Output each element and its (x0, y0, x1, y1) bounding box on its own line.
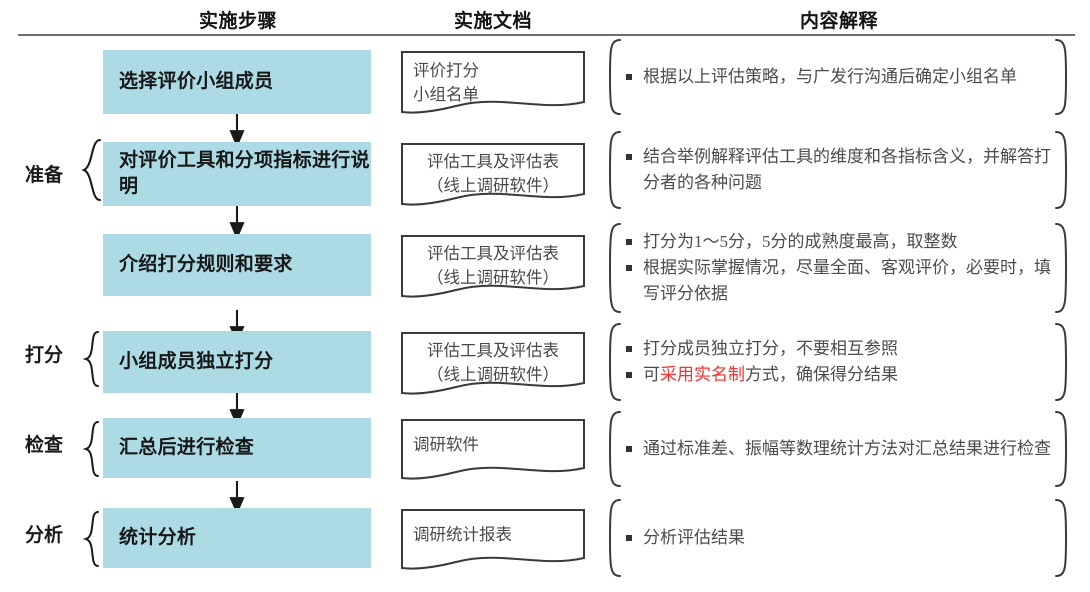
document-box-0[interactable]: 评价打分 小组名单 (400, 50, 586, 116)
bullet-square-icon (626, 239, 632, 245)
explanation-list-5: 分析评估结果 (626, 498, 1062, 578)
bullet-text: 根据实际掌握情况，尽量全面、客观评价，必要时，填写评分依据 (643, 255, 1062, 307)
document-text-5: 调研统计报表 (400, 523, 586, 547)
explanation-list-1: 结合举例解释评估工具的维度和各指标含义，并解答打分者的各种问题 (626, 130, 1062, 210)
bullet-square-icon (626, 265, 632, 271)
step-box-5[interactable]: 统计分析 (103, 508, 371, 568)
list-item: 打分为1～5分，5分的成熟度最高，取整数 (626, 229, 1062, 255)
document-box-2[interactable]: 评估工具及评估表 （线上调研软件） (400, 234, 586, 300)
list-item: 打分成员独立打分，不要相互参照 (626, 336, 1062, 362)
list-item: 根据实际掌握情况，尽量全面、客观评价，必要时，填写评分依据 (626, 255, 1062, 307)
step-label-0: 选择评价小组成员 (119, 69, 273, 95)
list-item-highlighted: 可采用实名制方式，确保得分结果 (626, 362, 1062, 388)
bullet-text: 根据以上评估策略，与广发行沟通后确定小组名单 (643, 64, 1062, 90)
document-box-5[interactable]: 调研统计报表 (400, 508, 586, 572)
step-box-0[interactable]: 选择评价小组成员 (103, 50, 371, 114)
document-text-0: 评价打分 小组名单 (400, 59, 586, 107)
document-box-4[interactable]: 调研软件 (400, 418, 586, 482)
bullet-text-prefix: 可 (643, 365, 660, 384)
list-item: 分析评估结果 (626, 525, 1062, 551)
explanation-box-1: 结合举例解释评估工具的维度和各指标含义，并解答打分者的各种问题 (604, 130, 1072, 210)
bullet-square-icon (626, 74, 632, 80)
bullet-text-highlight: 采用实名制 (660, 365, 745, 384)
document-box-3[interactable]: 评估工具及评估表 （线上调研软件） (400, 331, 586, 397)
bullet-square-icon (626, 535, 632, 541)
bullet-text-suffix: 方式，确保得分结果 (745, 365, 898, 384)
explanation-box-0: 根据以上评估策略，与广发行沟通后确定小组名单 (604, 38, 1072, 116)
step-label-2: 介绍打分规则和要求 (119, 252, 293, 278)
bullet-square-icon (626, 346, 632, 352)
step-label-4: 汇总后进行检查 (119, 435, 254, 461)
explanation-list-3: 打分成员独立打分，不要相互参照 可采用实名制方式，确保得分结果 (626, 322, 1062, 402)
step-label-1: 对评价工具和分项指标进行说明 (119, 148, 371, 200)
explanation-box-5: 分析评估结果 (604, 498, 1072, 578)
bullet-square-icon (626, 154, 632, 160)
document-text-1: 评估工具及评估表 （线上调研软件） (400, 150, 586, 198)
explanation-list-2: 打分为1～5分，5分的成熟度最高，取整数 根据实际掌握情况，尽量全面、客观评价，… (626, 222, 1062, 314)
explanation-list-0: 根据以上评估策略，与广发行沟通后确定小组名单 (626, 38, 1062, 116)
step-box-4[interactable]: 汇总后进行检查 (103, 418, 371, 478)
step-box-3[interactable]: 小组成员独立打分 (103, 331, 371, 393)
step-label-5: 统计分析 (119, 525, 196, 551)
bullet-text: 打分成员独立打分，不要相互参照 (643, 336, 1062, 362)
list-item: 通过标准差、振幅等数理统计方法对汇总结果进行检查 (626, 436, 1062, 462)
explanation-box-3: 打分成员独立打分，不要相互参照 可采用实名制方式，确保得分结果 (604, 322, 1072, 402)
list-item: 根据以上评估策略，与广发行沟通后确定小组名单 (626, 64, 1062, 90)
explanation-box-4: 通过标准差、振幅等数理统计方法对汇总结果进行检查 (604, 410, 1072, 488)
document-box-1[interactable]: 评估工具及评估表 （线上调研软件） (400, 142, 586, 208)
step-box-2[interactable]: 介绍打分规则和要求 (103, 234, 371, 296)
step-box-1[interactable]: 对评价工具和分项指标进行说明 (103, 142, 371, 206)
bullet-square-icon (626, 372, 632, 378)
bullet-text: 通过标准差、振幅等数理统计方法对汇总结果进行检查 (643, 436, 1062, 462)
explanation-list-4: 通过标准差、振幅等数理统计方法对汇总结果进行检查 (626, 410, 1062, 488)
document-text-2: 评估工具及评估表 （线上调研软件） (400, 242, 586, 290)
bullet-text: 打分为1～5分，5分的成熟度最高，取整数 (643, 229, 1062, 255)
step-label-3: 小组成员独立打分 (119, 349, 273, 375)
document-text-4: 调研软件 (400, 433, 586, 457)
document-text-3: 评估工具及评估表 （线上调研软件） (400, 339, 586, 387)
bullet-text: 分析评估结果 (643, 525, 1062, 551)
flow-diagram: 实施步骤 实施文档 内容解释 准备 打分 检查 分析 (0, 0, 1090, 592)
explanation-box-2: 打分为1～5分，5分的成熟度最高，取整数 根据实际掌握情况，尽量全面、客观评价，… (604, 222, 1072, 314)
bullet-square-icon (626, 446, 632, 452)
bullet-text: 可采用实名制方式，确保得分结果 (643, 362, 1062, 388)
bullet-text: 结合举例解释评估工具的维度和各指标含义，并解答打分者的各种问题 (643, 144, 1062, 196)
list-item: 结合举例解释评估工具的维度和各指标含义，并解答打分者的各种问题 (626, 144, 1062, 196)
